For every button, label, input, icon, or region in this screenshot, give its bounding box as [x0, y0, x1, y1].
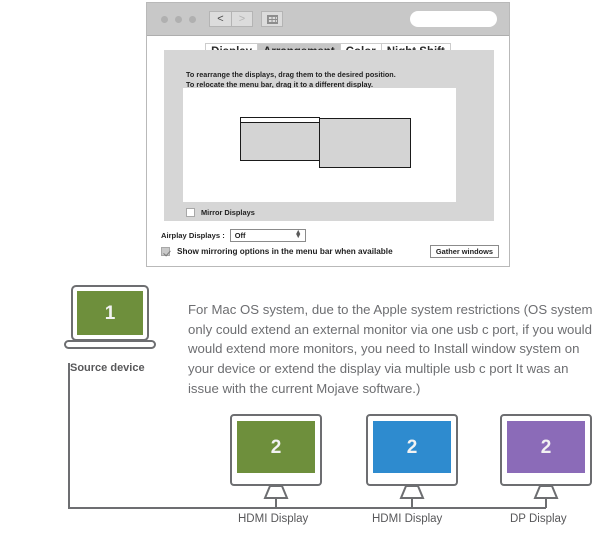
forward-button[interactable]: >: [231, 11, 253, 27]
menu-bar-strip[interactable]: [241, 118, 319, 123]
monitor-frame: 2: [500, 414, 592, 486]
stepper-arrows-icon[interactable]: ▲▼: [294, 231, 303, 241]
mirror-displays-checkbox[interactable]: [186, 208, 195, 217]
mirror-displays-row[interactable]: Mirror Displays: [186, 208, 255, 217]
airplay-displays-row: Airplay Displays : Off ▲▼: [161, 229, 306, 242]
display-monitor-hdmi-1: 2: [230, 414, 322, 502]
navigation-buttons: < >: [209, 11, 283, 27]
show-mirroring-checkbox[interactable]: [161, 247, 170, 256]
airplay-displays-value: Off: [231, 231, 246, 240]
display-number: 2: [541, 438, 552, 457]
monitor-screen: 2: [507, 421, 585, 473]
airplay-displays-label: Airplay Displays :: [161, 231, 225, 240]
display-arrangement-canvas[interactable]: [183, 88, 456, 202]
laptop-base: [64, 340, 156, 349]
monitor-stand: [532, 485, 560, 500]
display-caption-hdmi-2: HDMI Display: [372, 513, 442, 525]
monitor-stand: [262, 485, 290, 500]
display-number: 2: [407, 438, 418, 457]
gather-windows-button[interactable]: Gather windows: [430, 245, 499, 258]
display-monitor-hdmi-2: 2: [366, 414, 458, 502]
monitor-frame: 2: [230, 414, 322, 486]
source-device-laptop: 1: [64, 285, 156, 349]
airplay-displays-select[interactable]: Off ▲▼: [230, 229, 306, 242]
laptop-screen: 1: [77, 291, 143, 335]
instructions-text: To rearrange the displays, drag them to …: [186, 70, 396, 89]
close-button-icon[interactable]: [161, 16, 168, 23]
window-titlebar: < >: [147, 3, 509, 36]
display-number: 2: [271, 438, 282, 457]
show-mirroring-row: Show mirroring options in the menu bar w…: [161, 245, 499, 258]
minimize-button-icon[interactable]: [175, 16, 182, 23]
back-button[interactable]: <: [209, 11, 231, 27]
display-monitor-dp: 2: [500, 414, 592, 502]
laptop-lid: 1: [71, 285, 149, 341]
zoom-button-icon[interactable]: [189, 16, 196, 23]
displays-preferences-window: < > Display Arrangement Color Night Shif…: [146, 2, 510, 267]
source-device-caption: Source device: [70, 362, 145, 374]
monitor-frame: 2: [366, 414, 458, 486]
show-mirroring-label: Show mirroring options in the menu bar w…: [177, 247, 393, 256]
display-caption-dp: DP Display: [510, 513, 567, 525]
traffic-light-buttons: [161, 16, 196, 23]
instructions-line-1: To rearrange the displays, drag them to …: [186, 70, 396, 80]
show-all-grid-button[interactable]: [261, 11, 283, 27]
monitor-screen: 2: [237, 421, 315, 473]
arrangement-panel: To rearrange the displays, drag them to …: [164, 50, 494, 221]
grid-view-icon: [267, 15, 278, 24]
mirror-displays-label: Mirror Displays: [201, 208, 255, 217]
search-input[interactable]: [410, 11, 497, 27]
source-device-number: 1: [105, 304, 116, 323]
description-paragraph: For Mac OS system, due to the Apple syst…: [188, 300, 602, 398]
monitor-stand: [398, 485, 426, 500]
display-thumbnail-primary[interactable]: [240, 117, 320, 161]
display-caption-hdmi-1: HDMI Display: [238, 513, 308, 525]
monitor-screen: 2: [373, 421, 451, 473]
display-thumbnail-secondary[interactable]: [319, 118, 411, 168]
